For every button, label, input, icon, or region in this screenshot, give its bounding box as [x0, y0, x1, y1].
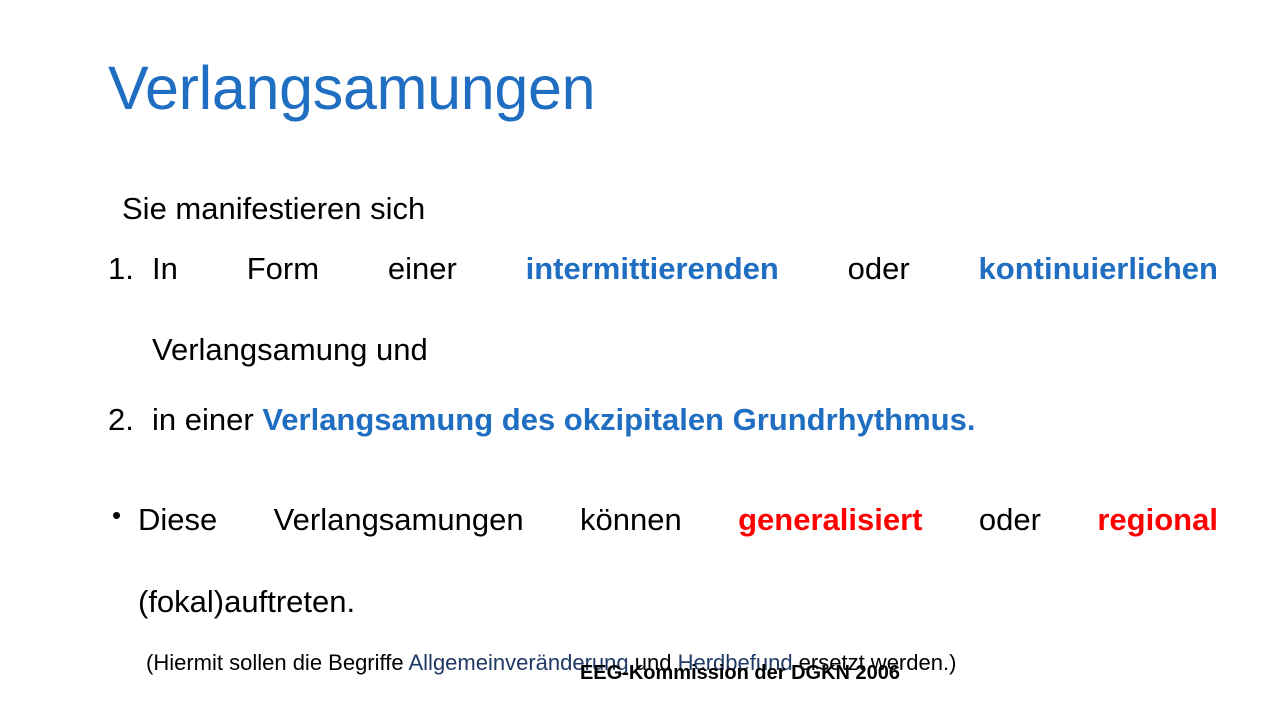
- numbered-list: 1. In Form einer intermittierenden oder …: [108, 249, 1218, 440]
- slide-canvas: Verlangsamungen Sie manifestieren sich 1…: [0, 0, 1280, 720]
- bullet-word-verlangsamungen: Verlangsamungen: [274, 502, 524, 537]
- list-marker-2: 2.: [108, 400, 146, 440]
- item1-emphasis-intermittierenden: intermittierenden: [526, 251, 779, 286]
- item1-word-form: Form: [247, 251, 319, 286]
- bullet-emphasis-regional: regional: [1097, 502, 1218, 537]
- list-marker-1: 1.: [108, 249, 146, 289]
- item1-word-oder: oder: [848, 251, 910, 286]
- item1-word-in: In: [152, 251, 178, 286]
- item1-line2: Verlangsamung und: [152, 330, 1218, 370]
- footer-attribution: EEG-Kommission der DGKN 2006: [0, 662, 1280, 685]
- bullet-emphasis-generalisiert: generalisiert: [738, 502, 922, 537]
- bullet-paragraph: • Diese Verlangsamungen können generalis…: [108, 500, 1218, 623]
- bullet-word-oder: oder: [979, 502, 1041, 537]
- list-item-1: 1. In Form einer intermittierenden oder …: [108, 249, 1218, 370]
- item1-emphasis-kontinuierlichen: kontinuierlichen: [979, 251, 1218, 286]
- item2-plain-prefix: in einer: [152, 402, 254, 437]
- item1-word-einer: einer: [388, 251, 457, 286]
- bullet-word-koennen: können: [580, 502, 682, 537]
- slide-body: Sie manifestieren sich 1. In Form einer …: [108, 190, 1218, 678]
- page-title: Verlangsamungen: [108, 56, 1208, 120]
- list-item-2: 2. in einer Verlangsamung des okzipitale…: [108, 400, 1218, 440]
- bullet-line2: (fokal)auftreten.: [138, 582, 1218, 623]
- intro-text: Sie manifestieren sich: [108, 190, 1218, 227]
- bullet-word-diese: Diese: [138, 502, 217, 537]
- bullet-dot-icon: •: [112, 498, 121, 532]
- item2-emphasis-grundrhythmus: Verlangsamung des okzipitalen Grundrhyth…: [262, 402, 975, 437]
